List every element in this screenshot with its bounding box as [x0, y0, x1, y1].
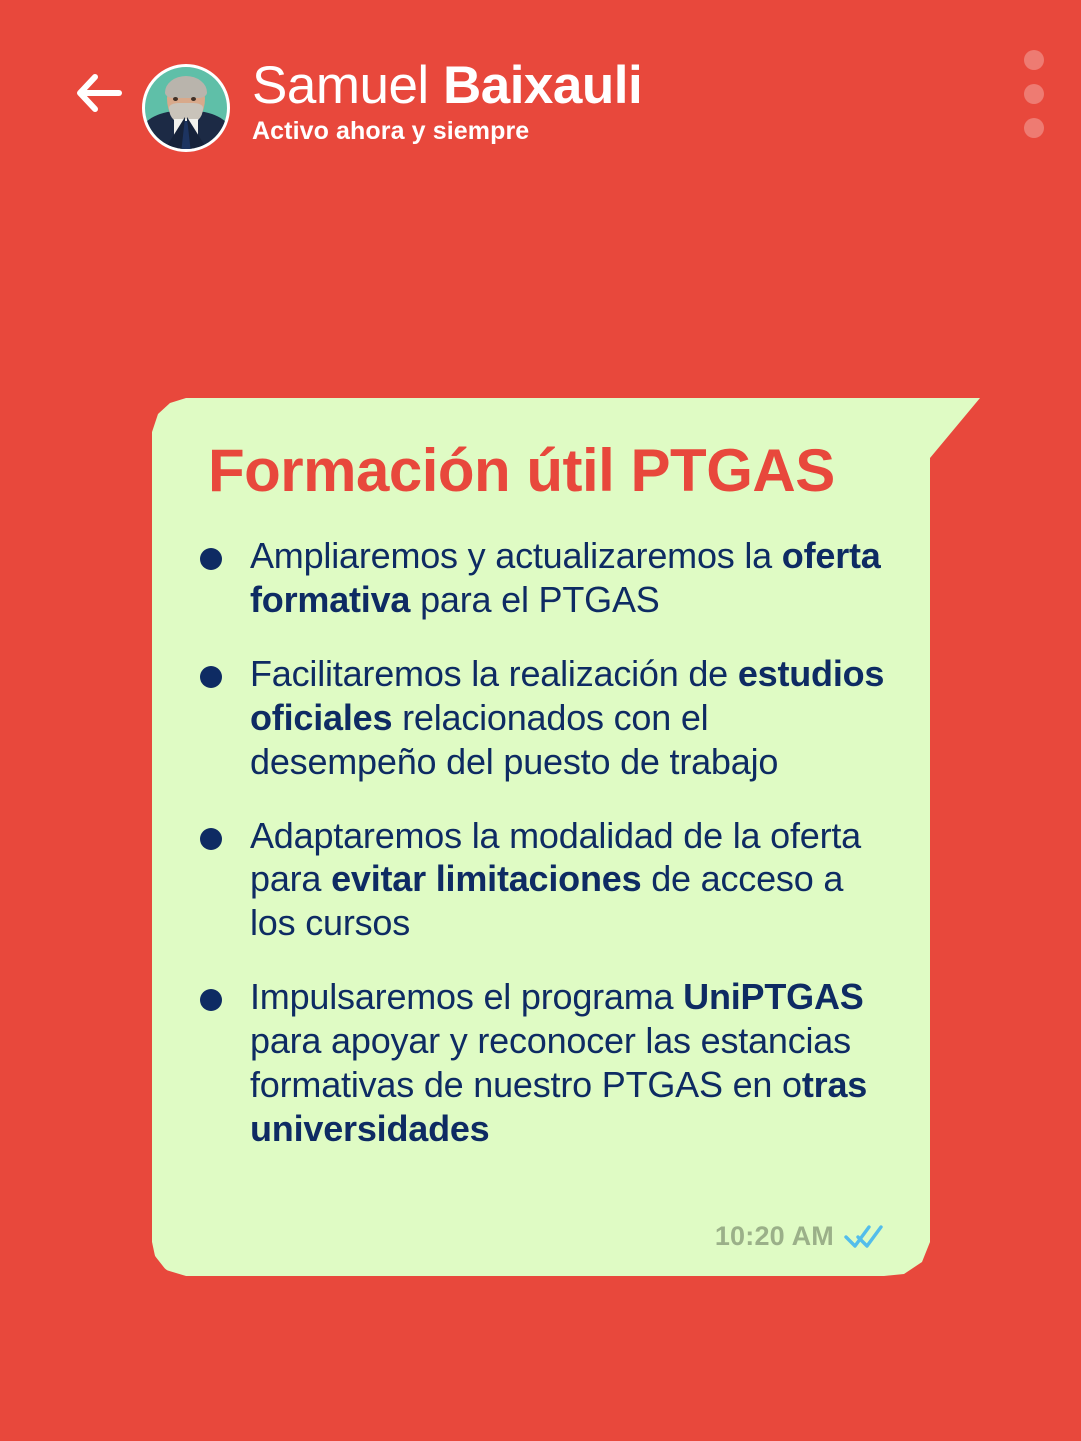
list-item: Facilitaremos la realización de estudios…: [200, 652, 902, 784]
avatar-hair: [165, 76, 207, 98]
contact-info[interactable]: Samuel Baixauli Activo ahora y siempre: [252, 58, 642, 146]
back-button[interactable]: [68, 62, 130, 124]
menu-dot-2: [1024, 84, 1044, 104]
contact-name: Samuel Baixauli: [252, 58, 642, 113]
bullet-text: Facilitaremos la realización de estudios…: [250, 652, 890, 784]
avatar-eye-left: [173, 97, 178, 101]
chat-header: Samuel Baixauli Activo ahora y siempre: [0, 0, 1081, 200]
bullet-text: Impulsaremos el programa UniPTGAS para a…: [250, 975, 890, 1151]
bullet-dot-icon: [200, 989, 222, 1011]
bullet-list: Ampliaremos y actualizaremos la oferta f…: [200, 534, 902, 1151]
more-vertical-icon[interactable]: [1017, 50, 1051, 138]
bullet-dot-icon: [200, 828, 222, 850]
menu-dot-3: [1024, 118, 1044, 138]
contact-first-name: Samuel: [252, 56, 443, 115]
double-check-icon: [844, 1223, 884, 1251]
contact-last-name: Baixauli: [443, 56, 642, 115]
avatar-eye-right: [191, 97, 196, 101]
contact-status: Activo ahora y siempre: [252, 117, 642, 146]
bullet-text: Adaptaremos la modalidad de la oferta pa…: [250, 814, 890, 946]
list-item: Adaptaremos la modalidad de la oferta pa…: [200, 814, 902, 946]
menu-dot-1: [1024, 50, 1044, 70]
bullet-text: Ampliaremos y actualizaremos la oferta f…: [250, 534, 890, 622]
message-bubble[interactable]: Formación útil PTGAS Ampliaremos y actua…: [152, 398, 982, 1276]
avatar[interactable]: [142, 64, 230, 152]
message-meta: 10:20 AM: [715, 1221, 884, 1252]
list-item: Impulsaremos el programa UniPTGAS para a…: [200, 975, 902, 1151]
list-item: Ampliaremos y actualizaremos la oferta f…: [200, 534, 902, 622]
message-content: Formación útil PTGAS Ampliaremos y actua…: [152, 398, 930, 1276]
message-timestamp: 10:20 AM: [715, 1221, 834, 1252]
arrow-left-icon: [76, 74, 122, 112]
bullet-dot-icon: [200, 666, 222, 688]
bullet-dot-icon: [200, 548, 222, 570]
message-title: Formación útil PTGAS: [208, 438, 902, 504]
